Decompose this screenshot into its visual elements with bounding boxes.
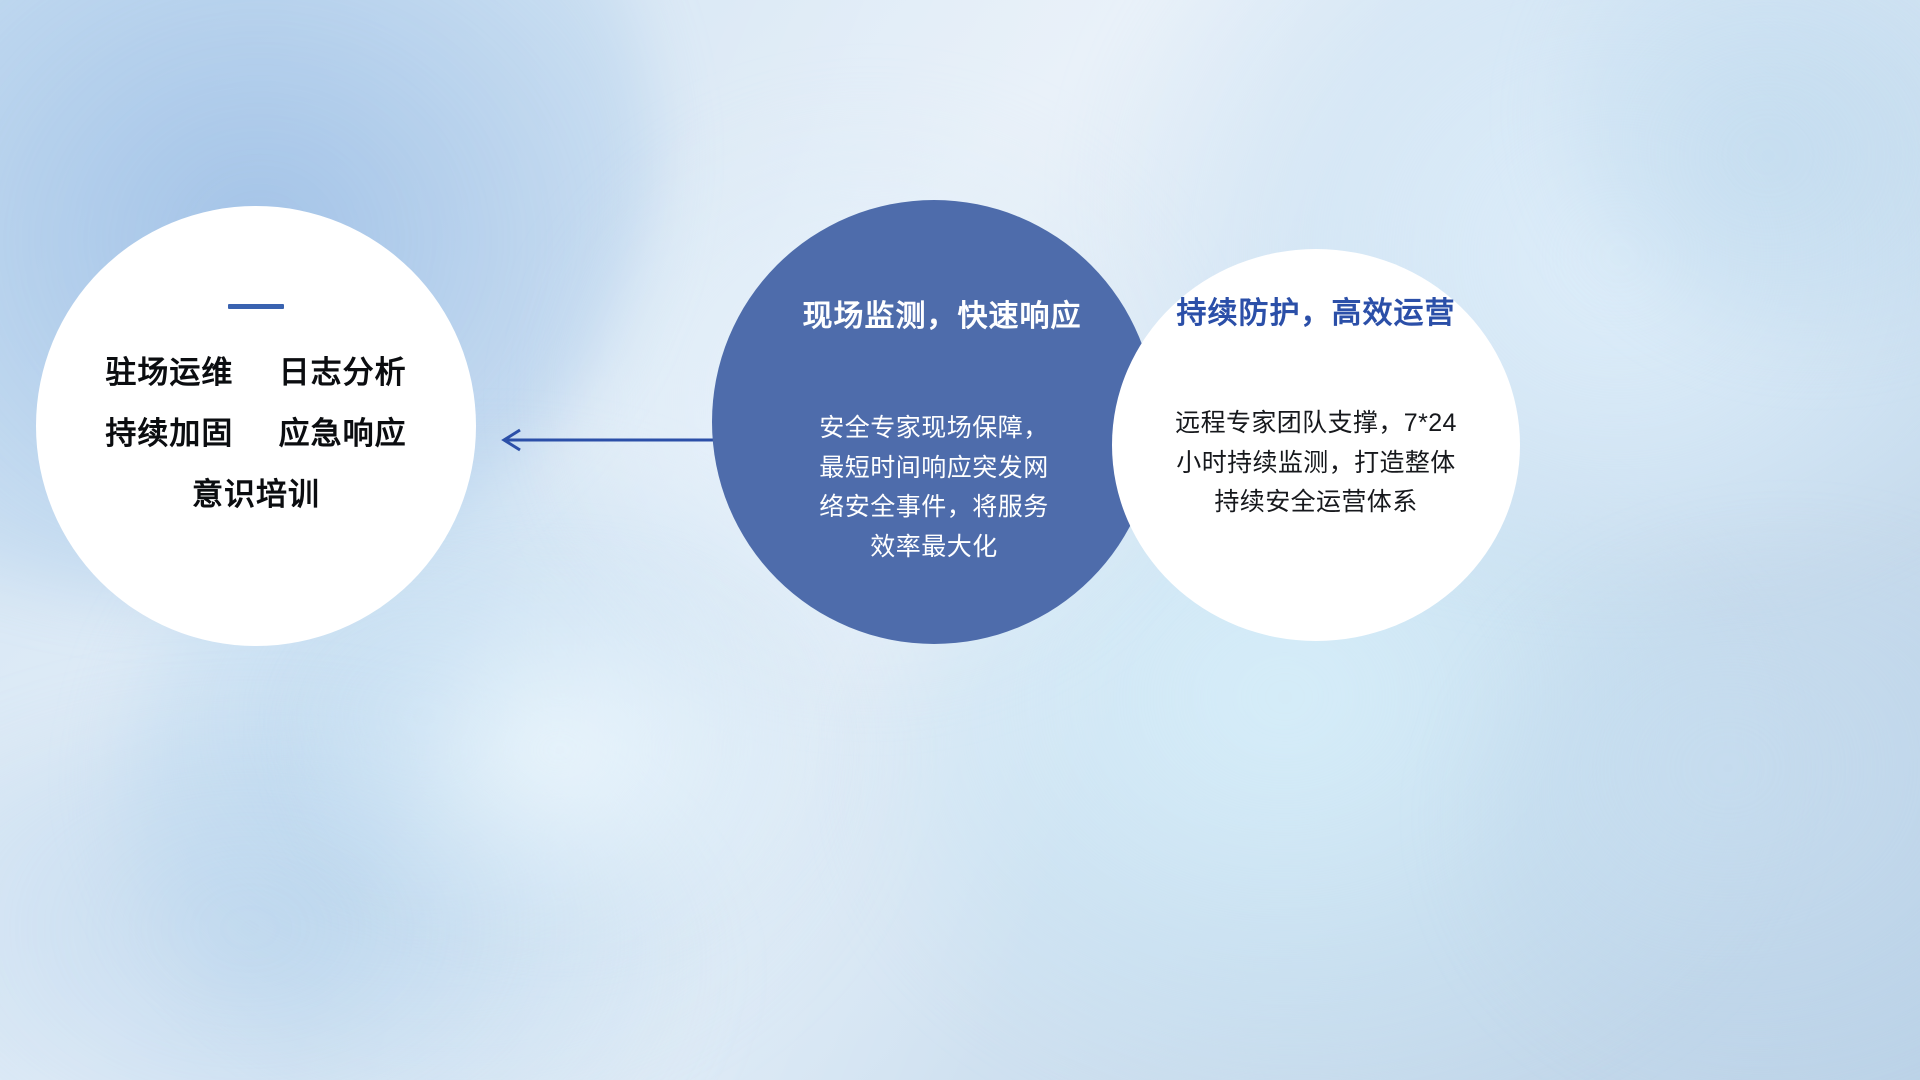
capability-tag-awareness-training[interactable]: 意识培训 <box>192 477 320 512</box>
onsite-monitoring-body: 安全专家现场保障， 最短时间响应突发网 络安全事件，将服务 效率最大化 <box>758 409 1110 567</box>
background-blob-upper-right <box>1560 0 1920 340</box>
capability-tag-onsite-ops[interactable]: 驻场运维 <box>105 355 233 390</box>
continuous-body-line-2: 小时持续监测，打造整体 <box>1134 444 1498 484</box>
capabilities-content: 驻场运维 日志分析 持续加固 应急响应 意识培训 <box>36 304 476 510</box>
background-blob-bottom-left <box>0 720 700 1080</box>
capability-row-2: 持续加固 应急响应 <box>36 418 476 449</box>
continuous-body-line-3: 持续安全运营体系 <box>1134 483 1498 523</box>
onsite-body-line-3: 络安全事件，将服务 <box>758 488 1110 528</box>
accent-rule-divider <box>228 304 284 309</box>
capability-row-3: 意识培训 <box>36 479 476 510</box>
onsite-monitoring-circle[interactable]: 现场监测，快速响应 安全专家现场保障， 最短时间响应突发网 络安全事件，将服务 … <box>712 200 1156 644</box>
onsite-monitoring-content: 现场监测，快速响应 安全专家现场保障， 最短时间响应突发网 络安全事件，将服务 … <box>758 300 1110 567</box>
continuous-protection-title: 持续防护，高效运营 <box>1134 297 1498 330</box>
onsite-body-line-2: 最短时间响应突发网 <box>758 449 1110 489</box>
background-blob-lower-center <box>300 560 820 940</box>
continuous-protection-content: 持续防护，高效运营 远程专家团队支撑，7*24 小时持续监测，打造整体 持续安全… <box>1134 297 1498 523</box>
capabilities-circle[interactable]: 驻场运维 日志分析 持续加固 应急响应 意识培训 <box>36 206 476 646</box>
slide-canvas: 驻场运维 日志分析 持续加固 应急响应 意识培训 现场监测，快速响应 安全专家现… <box>0 0 1920 1080</box>
continuous-protection-circle[interactable]: 持续防护，高效运营 远程专家团队支撑，7*24 小时持续监测，打造整体 持续安全… <box>1112 249 1520 641</box>
capability-row-1: 驻场运维 日志分析 <box>36 357 476 388</box>
capability-tag-emergency-response[interactable]: 应急响应 <box>279 416 407 451</box>
capability-tag-log-analysis[interactable]: 日志分析 <box>279 355 407 390</box>
background-blob-bottom-right <box>1480 560 1920 1080</box>
onsite-monitoring-title: 现场监测，快速响应 <box>774 300 1110 333</box>
continuous-protection-body: 远程专家团队支撑，7*24 小时持续监测，打造整体 持续安全运营体系 <box>1134 404 1498 523</box>
continuous-body-line-1: 远程专家团队支撑，7*24 <box>1134 404 1498 444</box>
flow-arrow-left <box>490 418 730 462</box>
onsite-body-line-4: 效率最大化 <box>758 528 1110 568</box>
capability-tag-continuous-hardening[interactable]: 持续加固 <box>105 416 233 451</box>
onsite-body-line-1: 安全专家现场保障， <box>758 409 1110 449</box>
